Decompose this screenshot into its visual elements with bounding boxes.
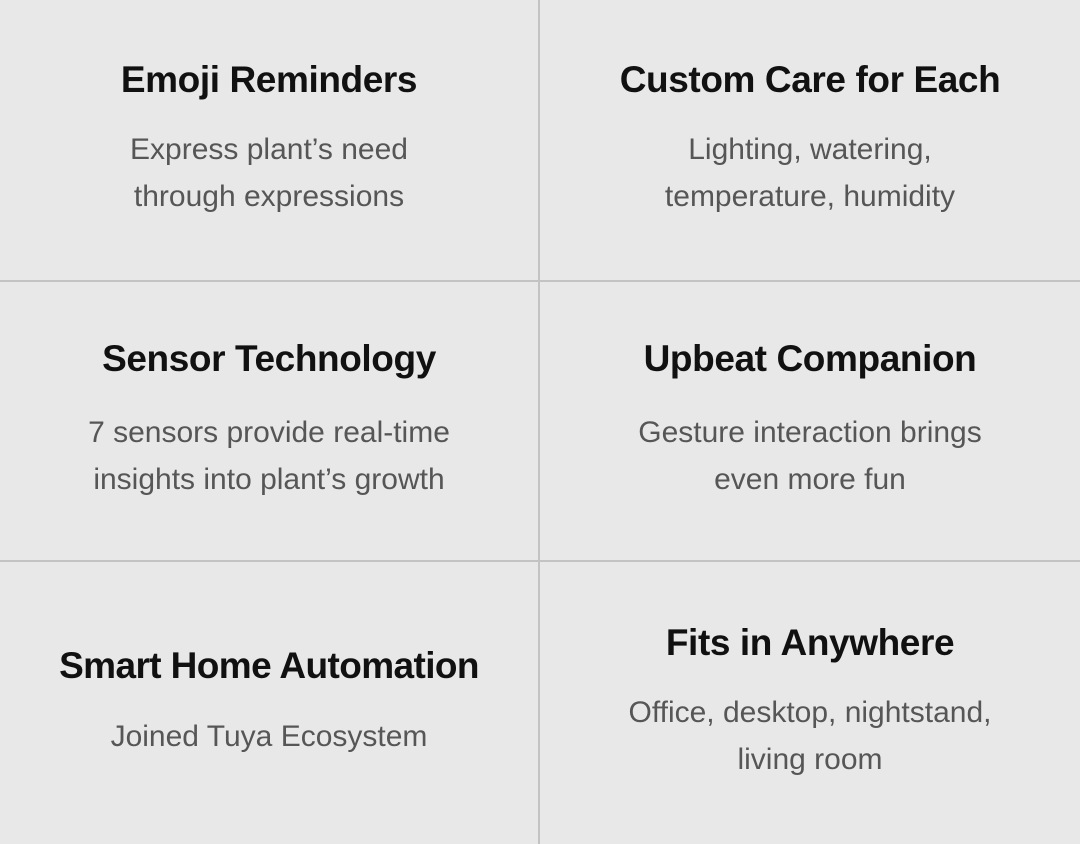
feature-cell-upbeat-companion: Upbeat Companion Gesture interaction bri…: [540, 282, 1080, 562]
feature-heading: Fits in Anywhere: [666, 623, 954, 664]
feature-heading: Upbeat Companion: [644, 339, 977, 380]
feature-heading: Sensor Technology: [102, 339, 436, 380]
feature-cell-smart-home-automation: Smart Home Automation Joined Tuya Ecosys…: [0, 562, 540, 844]
feature-body-line: Gesture interaction brings: [638, 409, 982, 456]
feature-body-line: insights into plant’s growth: [88, 456, 450, 503]
feature-cell-sensor-technology: Sensor Technology 7 sensors provide real…: [0, 282, 540, 562]
feature-body-line: through expressions: [130, 173, 408, 220]
feature-body: Office, desktop, nightstand, living room: [628, 689, 991, 783]
feature-body: Gesture interaction brings even more fun: [638, 409, 982, 503]
feature-cell-emoji-reminders: Emoji Reminders Express plant’s need thr…: [0, 0, 540, 282]
feature-heading: Smart Home Automation: [59, 646, 479, 687]
feature-body-line: Lighting, watering,: [665, 126, 955, 173]
feature-body-line: even more fun: [638, 456, 982, 503]
feature-body-line: Office, desktop, nightstand,: [628, 689, 991, 736]
feature-cell-custom-care-for-each: Custom Care for Each Lighting, watering,…: [540, 0, 1080, 282]
feature-heading: Emoji Reminders: [121, 60, 417, 101]
feature-body: Express plant’s need through expressions: [130, 126, 408, 220]
feature-body-line: temperature, humidity: [665, 173, 955, 220]
feature-grid: Emoji Reminders Express plant’s need thr…: [0, 0, 1080, 844]
feature-heading: Custom Care for Each: [620, 60, 1001, 101]
feature-cell-fits-in-anywhere: Fits in Anywhere Office, desktop, nights…: [540, 562, 1080, 844]
feature-body: Joined Tuya Ecosystem: [111, 713, 428, 760]
feature-body: 7 sensors provide real-time insights int…: [88, 409, 450, 503]
feature-body-line: Express plant’s need: [130, 126, 408, 173]
feature-body-line: Joined Tuya Ecosystem: [111, 713, 428, 760]
feature-body-line: 7 sensors provide real-time: [88, 409, 450, 456]
feature-body-line: living room: [628, 736, 991, 783]
feature-body: Lighting, watering, temperature, humidit…: [665, 126, 955, 220]
